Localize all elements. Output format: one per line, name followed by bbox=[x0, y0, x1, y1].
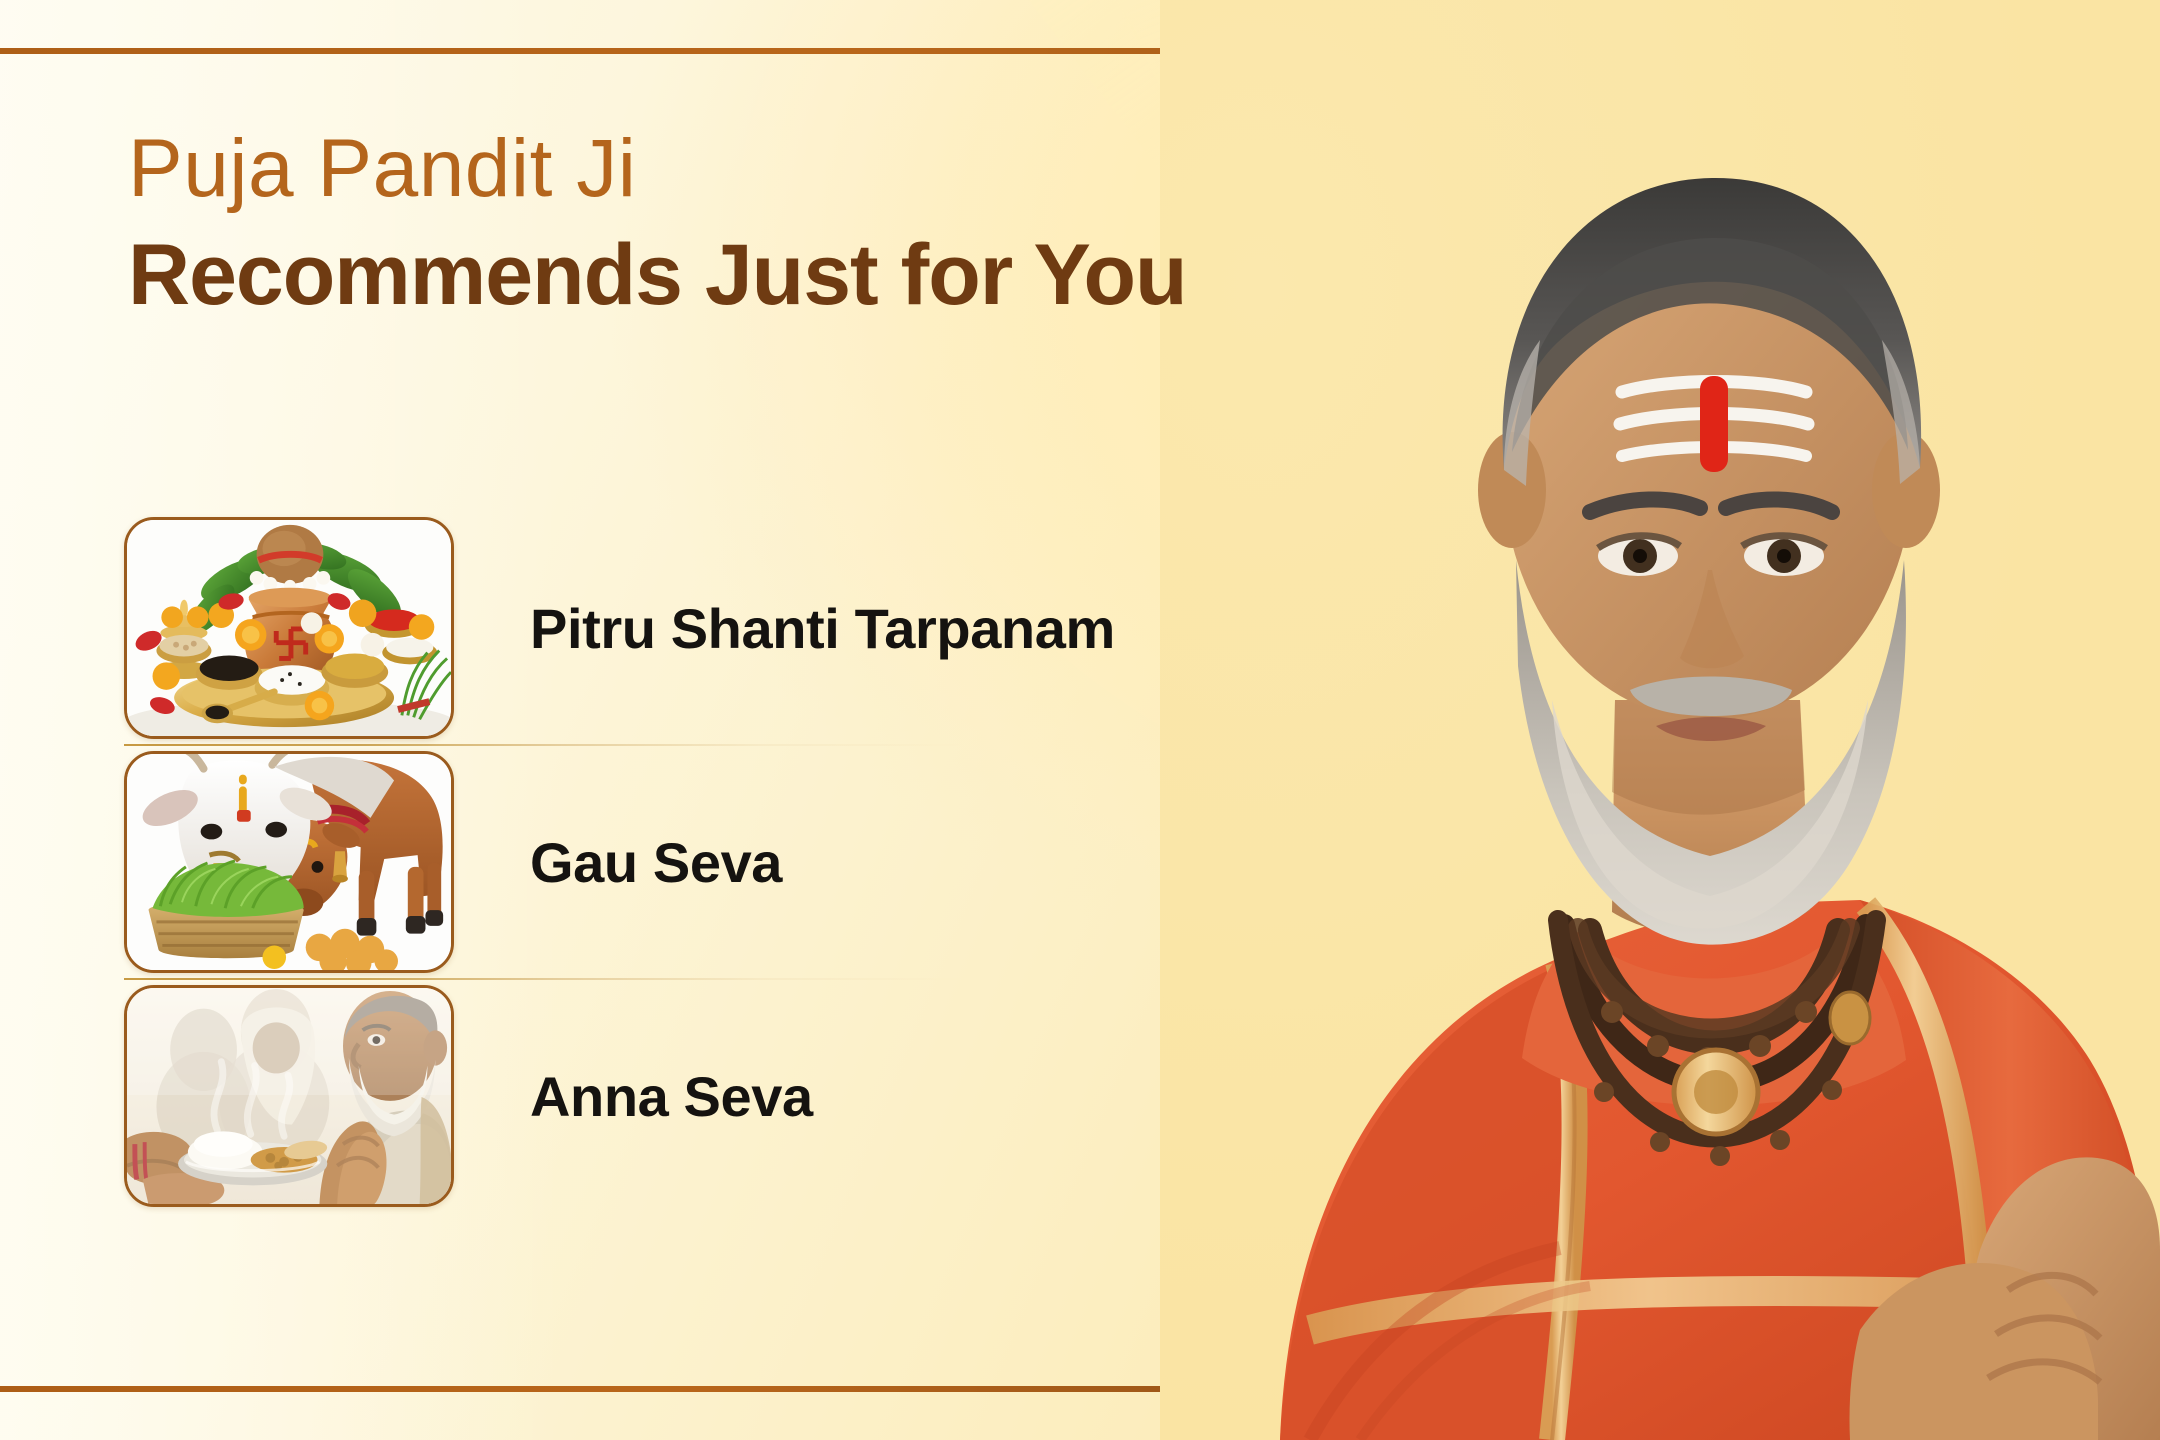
puja-thali-kalash-photo[interactable] bbox=[124, 517, 454, 739]
bottom-divider-rule bbox=[0, 1386, 1204, 1392]
list-item[interactable]: Anna Seva bbox=[124, 980, 1104, 1212]
list-item[interactable]: Pitru Shanti Tarpanam bbox=[124, 512, 1104, 744]
headline-block: Puja Pandit Ji Recommends Just for You bbox=[128, 128, 1528, 320]
recommendation-list: Pitru Shanti Tarpanam bbox=[124, 512, 1104, 1212]
banner-stage: Puja Pandit Ji Recommends Just for You bbox=[0, 0, 2160, 1440]
headline-line-1: Puja Pandit Ji bbox=[128, 128, 1528, 210]
food-donation-photo[interactable] bbox=[124, 985, 454, 1207]
list-item-label: Anna Seva bbox=[530, 1064, 813, 1129]
headline-line-2: Recommends Just for You bbox=[128, 232, 1528, 320]
list-item[interactable]: Gau Seva bbox=[124, 746, 1104, 978]
list-item-label: Gau Seva bbox=[530, 830, 782, 895]
cow-and-calf-photo[interactable] bbox=[124, 751, 454, 973]
list-item-label: Pitru Shanti Tarpanam bbox=[530, 596, 1115, 661]
